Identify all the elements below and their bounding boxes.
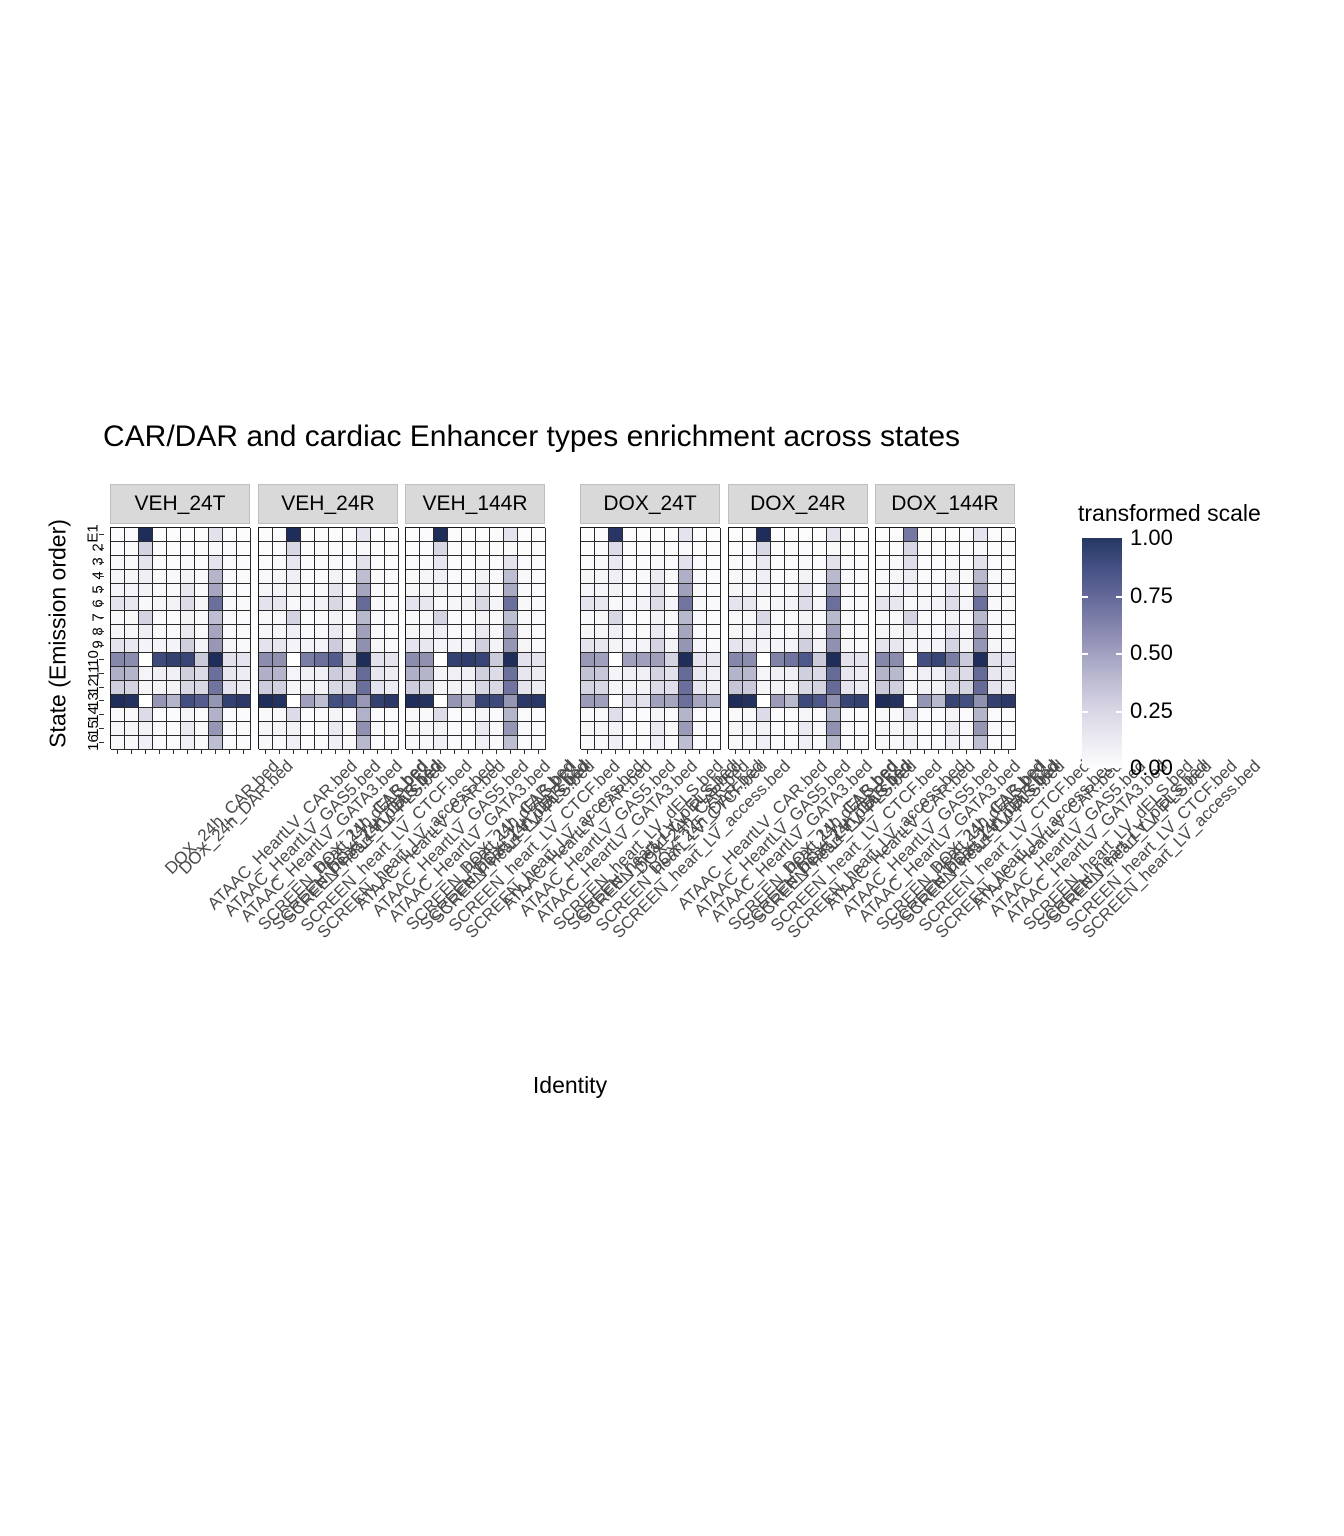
heatmap-cell[interactable]	[371, 570, 385, 584]
heatmap-cell[interactable]	[651, 570, 665, 584]
heatmap-cell[interactable]	[518, 736, 532, 750]
heatmap-cell[interactable]	[693, 708, 707, 722]
heatmap-cell[interactable]	[651, 722, 665, 736]
heatmap-cell[interactable]	[448, 528, 462, 542]
heatmap-cell[interactable]	[490, 584, 504, 598]
heatmap-cell[interactable]	[679, 708, 693, 722]
heatmap-cell[interactable]	[167, 597, 181, 611]
heatmap-cell[interactable]	[532, 625, 546, 639]
heatmap-cell[interactable]	[259, 681, 273, 695]
heatmap-cell[interactable]	[420, 639, 434, 653]
heatmap-cell[interactable]	[273, 542, 287, 556]
heatmap-cell[interactable]	[665, 597, 679, 611]
heatmap-cell[interactable]	[855, 570, 869, 584]
heatmap-cell[interactable]	[125, 708, 139, 722]
heatmap-cell[interactable]	[799, 584, 813, 598]
heatmap-cell[interactable]	[785, 528, 799, 542]
heatmap-cell[interactable]	[532, 681, 546, 695]
heatmap-cell[interactable]	[139, 667, 153, 681]
heatmap-cell[interactable]	[153, 736, 167, 750]
heatmap-cell[interactable]	[904, 584, 918, 598]
heatmap-cell[interactable]	[876, 611, 890, 625]
heatmap-cell[interactable]	[490, 542, 504, 556]
heatmap-cell[interactable]	[259, 639, 273, 653]
heatmap-cell[interactable]	[988, 667, 1002, 681]
heatmap-cell[interactable]	[385, 667, 399, 681]
heatmap-cell[interactable]	[462, 736, 476, 750]
heatmap-cell[interactable]	[237, 597, 251, 611]
heatmap-cell[interactable]	[357, 722, 371, 736]
heatmap-cell[interactable]	[904, 736, 918, 750]
heatmap-cell[interactable]	[855, 556, 869, 570]
heatmap-cell[interactable]	[771, 708, 785, 722]
heatmap-cell[interactable]	[918, 584, 932, 598]
heatmap-cell[interactable]	[974, 681, 988, 695]
heatmap-cell[interactable]	[743, 625, 757, 639]
heatmap-cell[interactable]	[757, 722, 771, 736]
heatmap-cell[interactable]	[273, 695, 287, 709]
heatmap-cell[interactable]	[287, 639, 301, 653]
heatmap-cell[interactable]	[504, 736, 518, 750]
heatmap-cell[interactable]	[329, 625, 343, 639]
heatmap-cell[interactable]	[223, 736, 237, 750]
heatmap-cell[interactable]	[890, 542, 904, 556]
heatmap-cell[interactable]	[637, 653, 651, 667]
heatmap-cell[interactable]	[743, 722, 757, 736]
heatmap-cell[interactable]	[209, 681, 223, 695]
heatmap-cell[interactable]	[679, 736, 693, 750]
heatmap-cell[interactable]	[946, 528, 960, 542]
heatmap-cell[interactable]	[799, 528, 813, 542]
heatmap-cell[interactable]	[799, 681, 813, 695]
heatmap-cell[interactable]	[876, 722, 890, 736]
heatmap-cell[interactable]	[974, 611, 988, 625]
heatmap-cell[interactable]	[287, 570, 301, 584]
heatmap-cell[interactable]	[532, 653, 546, 667]
heatmap-cell[interactable]	[287, 708, 301, 722]
heatmap-cell[interactable]	[932, 597, 946, 611]
heatmap-cell[interactable]	[315, 625, 329, 639]
heatmap-cell[interactable]	[904, 681, 918, 695]
heatmap-cell[interactable]	[827, 722, 841, 736]
heatmap-cell[interactable]	[988, 556, 1002, 570]
heatmap-cell[interactable]	[581, 611, 595, 625]
heatmap-cell[interactable]	[693, 625, 707, 639]
heatmap-cell[interactable]	[434, 542, 448, 556]
heatmap-cell[interactable]	[371, 584, 385, 598]
heatmap-cell[interactable]	[841, 667, 855, 681]
heatmap-cell[interactable]	[504, 653, 518, 667]
heatmap-cell[interactable]	[679, 528, 693, 542]
heatmap-cell[interactable]	[209, 528, 223, 542]
heatmap-cell[interactable]	[785, 597, 799, 611]
heatmap-cell[interactable]	[259, 570, 273, 584]
heatmap-cell[interactable]	[273, 667, 287, 681]
heatmap-cell[interactable]	[581, 625, 595, 639]
heatmap-cell[interactable]	[153, 708, 167, 722]
heatmap-cell[interactable]	[932, 528, 946, 542]
heatmap-cell[interactable]	[799, 653, 813, 667]
heatmap-cell[interactable]	[329, 695, 343, 709]
heatmap-cell[interactable]	[357, 528, 371, 542]
heatmap-cell[interactable]	[904, 611, 918, 625]
heatmap-cell[interactable]	[195, 597, 209, 611]
heatmap-cell[interactable]	[813, 736, 827, 750]
heatmap-cell[interactable]	[111, 667, 125, 681]
heatmap-cell[interactable]	[125, 584, 139, 598]
heatmap-cell[interactable]	[153, 556, 167, 570]
heatmap-cell[interactable]	[343, 597, 357, 611]
heatmap-cell[interactable]	[195, 695, 209, 709]
heatmap-cell[interactable]	[904, 653, 918, 667]
heatmap-cell[interactable]	[890, 722, 904, 736]
heatmap-cell[interactable]	[448, 556, 462, 570]
heatmap-cell[interactable]	[385, 542, 399, 556]
heatmap-cell[interactable]	[827, 639, 841, 653]
heatmap-cell[interactable]	[111, 695, 125, 709]
heatmap-cell[interactable]	[827, 570, 841, 584]
heatmap-cell[interactable]	[637, 625, 651, 639]
heatmap-cell[interactable]	[932, 708, 946, 722]
heatmap-cell[interactable]	[813, 584, 827, 598]
heatmap-cell[interactable]	[223, 681, 237, 695]
heatmap-cell[interactable]	[771, 570, 785, 584]
heatmap-cell[interactable]	[287, 667, 301, 681]
heatmap-cell[interactable]	[223, 597, 237, 611]
heatmap-cell[interactable]	[960, 722, 974, 736]
heatmap-cell[interactable]	[476, 556, 490, 570]
heatmap-cell[interactable]	[448, 708, 462, 722]
heatmap-cell[interactable]	[209, 722, 223, 736]
heatmap-cell[interactable]	[960, 625, 974, 639]
heatmap-cell[interactable]	[707, 722, 721, 736]
heatmap-cell[interactable]	[434, 625, 448, 639]
heatmap-cell[interactable]	[209, 542, 223, 556]
heatmap-cell[interactable]	[125, 570, 139, 584]
heatmap-cell[interactable]	[813, 722, 827, 736]
heatmap-cell[interactable]	[890, 639, 904, 653]
heatmap-cell[interactable]	[343, 681, 357, 695]
heatmap-cell[interactable]	[329, 667, 343, 681]
heatmap-cell[interactable]	[904, 528, 918, 542]
heatmap-cell[interactable]	[357, 556, 371, 570]
heatmap-cell[interactable]	[729, 667, 743, 681]
heatmap-cell[interactable]	[729, 708, 743, 722]
heatmap-cell[interactable]	[490, 681, 504, 695]
heatmap-cell[interactable]	[406, 625, 420, 639]
heatmap-cell[interactable]	[532, 570, 546, 584]
heatmap-cell[interactable]	[434, 528, 448, 542]
heatmap-cell[interactable]	[518, 681, 532, 695]
heatmap-cell[interactable]	[448, 542, 462, 556]
heatmap-cell[interactable]	[406, 695, 420, 709]
heatmap-cell[interactable]	[855, 584, 869, 598]
heatmap-cell[interactable]	[287, 736, 301, 750]
heatmap-cell[interactable]	[693, 695, 707, 709]
heatmap-cell[interactable]	[462, 611, 476, 625]
heatmap-cell[interactable]	[651, 556, 665, 570]
heatmap-cell[interactable]	[434, 556, 448, 570]
heatmap-cell[interactable]	[876, 639, 890, 653]
heatmap-cell[interactable]	[111, 597, 125, 611]
heatmap-cell[interactable]	[125, 695, 139, 709]
heatmap-cell[interactable]	[181, 597, 195, 611]
heatmap-cell[interactable]	[771, 584, 785, 598]
heatmap-cell[interactable]	[679, 584, 693, 598]
heatmap-cell[interactable]	[357, 695, 371, 709]
heatmap-cell[interactable]	[434, 667, 448, 681]
heatmap-cell[interactable]	[385, 611, 399, 625]
heatmap-cell[interactable]	[651, 542, 665, 556]
heatmap-cell[interactable]	[841, 681, 855, 695]
heatmap-cell[interactable]	[301, 528, 315, 542]
heatmap-cell[interactable]	[139, 542, 153, 556]
heatmap-cell[interactable]	[813, 667, 827, 681]
heatmap-cell[interactable]	[153, 597, 167, 611]
heatmap-cell[interactable]	[595, 597, 609, 611]
heatmap-cell[interactable]	[195, 639, 209, 653]
heatmap-cell[interactable]	[343, 722, 357, 736]
heatmap-cell[interactable]	[153, 653, 167, 667]
heatmap-cell[interactable]	[890, 570, 904, 584]
heatmap-cell[interactable]	[595, 695, 609, 709]
heatmap-cell[interactable]	[209, 611, 223, 625]
heatmap-cell[interactable]	[209, 708, 223, 722]
heatmap-cell[interactable]	[343, 653, 357, 667]
heatmap-cell[interactable]	[195, 736, 209, 750]
heatmap-cell[interactable]	[609, 722, 623, 736]
heatmap-cell[interactable]	[385, 528, 399, 542]
heatmap-cell[interactable]	[757, 584, 771, 598]
heatmap-cell[interactable]	[960, 681, 974, 695]
heatmap-cell[interactable]	[153, 722, 167, 736]
heatmap-cell[interactable]	[904, 570, 918, 584]
heatmap-cell[interactable]	[125, 722, 139, 736]
heatmap-cell[interactable]	[707, 625, 721, 639]
heatmap-cell[interactable]	[813, 625, 827, 639]
heatmap-cell[interactable]	[139, 681, 153, 695]
heatmap-cell[interactable]	[623, 625, 637, 639]
heatmap-cell[interactable]	[462, 597, 476, 611]
heatmap-cell[interactable]	[371, 625, 385, 639]
heatmap-cell[interactable]	[518, 570, 532, 584]
heatmap-cell[interactable]	[209, 736, 223, 750]
heatmap-cell[interactable]	[490, 611, 504, 625]
heatmap-cell[interactable]	[139, 611, 153, 625]
heatmap-cell[interactable]	[785, 736, 799, 750]
heatmap-cell[interactable]	[301, 667, 315, 681]
heatmap-cell[interactable]	[960, 542, 974, 556]
heatmap-cell[interactable]	[946, 653, 960, 667]
heatmap-cell[interactable]	[918, 542, 932, 556]
heatmap-cell[interactable]	[595, 681, 609, 695]
heatmap-cell[interactable]	[343, 528, 357, 542]
heatmap-cell[interactable]	[385, 625, 399, 639]
heatmap-cell[interactable]	[960, 708, 974, 722]
heatmap-cell[interactable]	[855, 653, 869, 667]
heatmap-cell[interactable]	[153, 528, 167, 542]
heatmap-cell[interactable]	[841, 584, 855, 598]
heatmap-cell[interactable]	[343, 611, 357, 625]
heatmap-cell[interactable]	[637, 528, 651, 542]
heatmap-cell[interactable]	[623, 597, 637, 611]
heatmap-cell[interactable]	[623, 722, 637, 736]
heatmap-cell[interactable]	[385, 695, 399, 709]
heatmap-cell[interactable]	[693, 667, 707, 681]
heatmap-cell[interactable]	[960, 639, 974, 653]
heatmap-cell[interactable]	[841, 611, 855, 625]
heatmap-cell[interactable]	[329, 556, 343, 570]
heatmap-cell[interactable]	[743, 695, 757, 709]
heatmap-cell[interactable]	[357, 681, 371, 695]
heatmap-cell[interactable]	[595, 556, 609, 570]
heatmap-cell[interactable]	[329, 639, 343, 653]
heatmap-cell[interactable]	[139, 653, 153, 667]
heatmap-cell[interactable]	[420, 597, 434, 611]
heatmap-cell[interactable]	[462, 542, 476, 556]
heatmap-cell[interactable]	[125, 736, 139, 750]
heatmap-cell[interactable]	[974, 722, 988, 736]
heatmap-cell[interactable]	[595, 570, 609, 584]
heatmap-cell[interactable]	[476, 736, 490, 750]
heatmap-cell[interactable]	[329, 653, 343, 667]
heatmap-cell[interactable]	[771, 597, 785, 611]
heatmap-cell[interactable]	[237, 695, 251, 709]
heatmap-cell[interactable]	[988, 611, 1002, 625]
heatmap-cell[interactable]	[1002, 556, 1016, 570]
heatmap-cell[interactable]	[301, 542, 315, 556]
heatmap-cell[interactable]	[876, 625, 890, 639]
heatmap-cell[interactable]	[665, 556, 679, 570]
heatmap-cell[interactable]	[385, 570, 399, 584]
heatmap-cell[interactable]	[167, 736, 181, 750]
heatmap-cell[interactable]	[237, 570, 251, 584]
heatmap-cell[interactable]	[111, 653, 125, 667]
heatmap-cell[interactable]	[960, 695, 974, 709]
heatmap-cell[interactable]	[259, 667, 273, 681]
heatmap-cell[interactable]	[665, 667, 679, 681]
heatmap-cell[interactable]	[743, 584, 757, 598]
heatmap-cell[interactable]	[504, 681, 518, 695]
heatmap-cell[interactable]	[743, 667, 757, 681]
heatmap-cell[interactable]	[637, 681, 651, 695]
heatmap-cell[interactable]	[623, 736, 637, 750]
heatmap-cell[interactable]	[1002, 681, 1016, 695]
heatmap-cell[interactable]	[623, 584, 637, 598]
heatmap-cell[interactable]	[855, 667, 869, 681]
heatmap-cell[interactable]	[448, 625, 462, 639]
heatmap-cell[interactable]	[420, 611, 434, 625]
heatmap-cell[interactable]	[139, 695, 153, 709]
heatmap-cell[interactable]	[504, 708, 518, 722]
heatmap-cell[interactable]	[532, 556, 546, 570]
heatmap-cell[interactable]	[343, 667, 357, 681]
heatmap-cell[interactable]	[448, 695, 462, 709]
heatmap-cell[interactable]	[448, 681, 462, 695]
heatmap-cell[interactable]	[988, 625, 1002, 639]
heatmap-cell[interactable]	[476, 653, 490, 667]
heatmap-cell[interactable]	[890, 625, 904, 639]
heatmap-cell[interactable]	[406, 653, 420, 667]
heatmap-cell[interactable]	[799, 597, 813, 611]
heatmap-cell[interactable]	[259, 611, 273, 625]
heatmap-cell[interactable]	[181, 708, 195, 722]
heatmap-cell[interactable]	[729, 542, 743, 556]
heatmap-cell[interactable]	[757, 695, 771, 709]
heatmap-cell[interactable]	[371, 695, 385, 709]
heatmap-cell[interactable]	[181, 695, 195, 709]
heatmap-cell[interactable]	[771, 736, 785, 750]
heatmap-cell[interactable]	[707, 681, 721, 695]
heatmap-cell[interactable]	[707, 695, 721, 709]
heatmap-cell[interactable]	[813, 653, 827, 667]
heatmap-cell[interactable]	[301, 639, 315, 653]
heatmap-cell[interactable]	[623, 681, 637, 695]
heatmap-cell[interactable]	[315, 667, 329, 681]
heatmap-cell[interactable]	[259, 625, 273, 639]
heatmap-cell[interactable]	[273, 639, 287, 653]
heatmap-cell[interactable]	[988, 722, 1002, 736]
heatmap-cell[interactable]	[876, 570, 890, 584]
heatmap-cell[interactable]	[841, 570, 855, 584]
heatmap-cell[interactable]	[1002, 542, 1016, 556]
heatmap-cell[interactable]	[799, 611, 813, 625]
heatmap-cell[interactable]	[918, 695, 932, 709]
heatmap-cell[interactable]	[974, 542, 988, 556]
heatmap-cell[interactable]	[532, 542, 546, 556]
heatmap-cell[interactable]	[490, 667, 504, 681]
heatmap-cell[interactable]	[237, 681, 251, 695]
heatmap-cell[interactable]	[125, 639, 139, 653]
heatmap-cell[interactable]	[827, 695, 841, 709]
heatmap-cell[interactable]	[139, 556, 153, 570]
heatmap-cell[interactable]	[223, 653, 237, 667]
heatmap-cell[interactable]	[693, 611, 707, 625]
heatmap-cell[interactable]	[195, 528, 209, 542]
heatmap-cell[interactable]	[771, 722, 785, 736]
heatmap-cell[interactable]	[329, 611, 343, 625]
heatmap-cell[interactable]	[932, 625, 946, 639]
heatmap-cell[interactable]	[595, 611, 609, 625]
heatmap-cell[interactable]	[932, 639, 946, 653]
heatmap-cell[interactable]	[167, 695, 181, 709]
heatmap-cell[interactable]	[609, 681, 623, 695]
heatmap-cell[interactable]	[301, 584, 315, 598]
heatmap-cell[interactable]	[581, 653, 595, 667]
heatmap-cell[interactable]	[637, 597, 651, 611]
heatmap-cell[interactable]	[287, 695, 301, 709]
heatmap-cell[interactable]	[111, 639, 125, 653]
heatmap-cell[interactable]	[904, 625, 918, 639]
heatmap-cell[interactable]	[651, 736, 665, 750]
heatmap-cell[interactable]	[223, 667, 237, 681]
heatmap-cell[interactable]	[827, 597, 841, 611]
heatmap-cell[interactable]	[406, 708, 420, 722]
heatmap-cell[interactable]	[237, 625, 251, 639]
heatmap-cell[interactable]	[385, 653, 399, 667]
heatmap-cell[interactable]	[771, 542, 785, 556]
heatmap-cell[interactable]	[139, 708, 153, 722]
heatmap-cell[interactable]	[988, 570, 1002, 584]
heatmap-cell[interactable]	[195, 556, 209, 570]
heatmap-cell[interactable]	[504, 597, 518, 611]
heatmap-cell[interactable]	[273, 570, 287, 584]
heatmap-cell[interactable]	[237, 611, 251, 625]
heatmap-cell[interactable]	[623, 556, 637, 570]
heatmap-cell[interactable]	[637, 639, 651, 653]
heatmap-cell[interactable]	[343, 570, 357, 584]
heatmap-cell[interactable]	[223, 611, 237, 625]
